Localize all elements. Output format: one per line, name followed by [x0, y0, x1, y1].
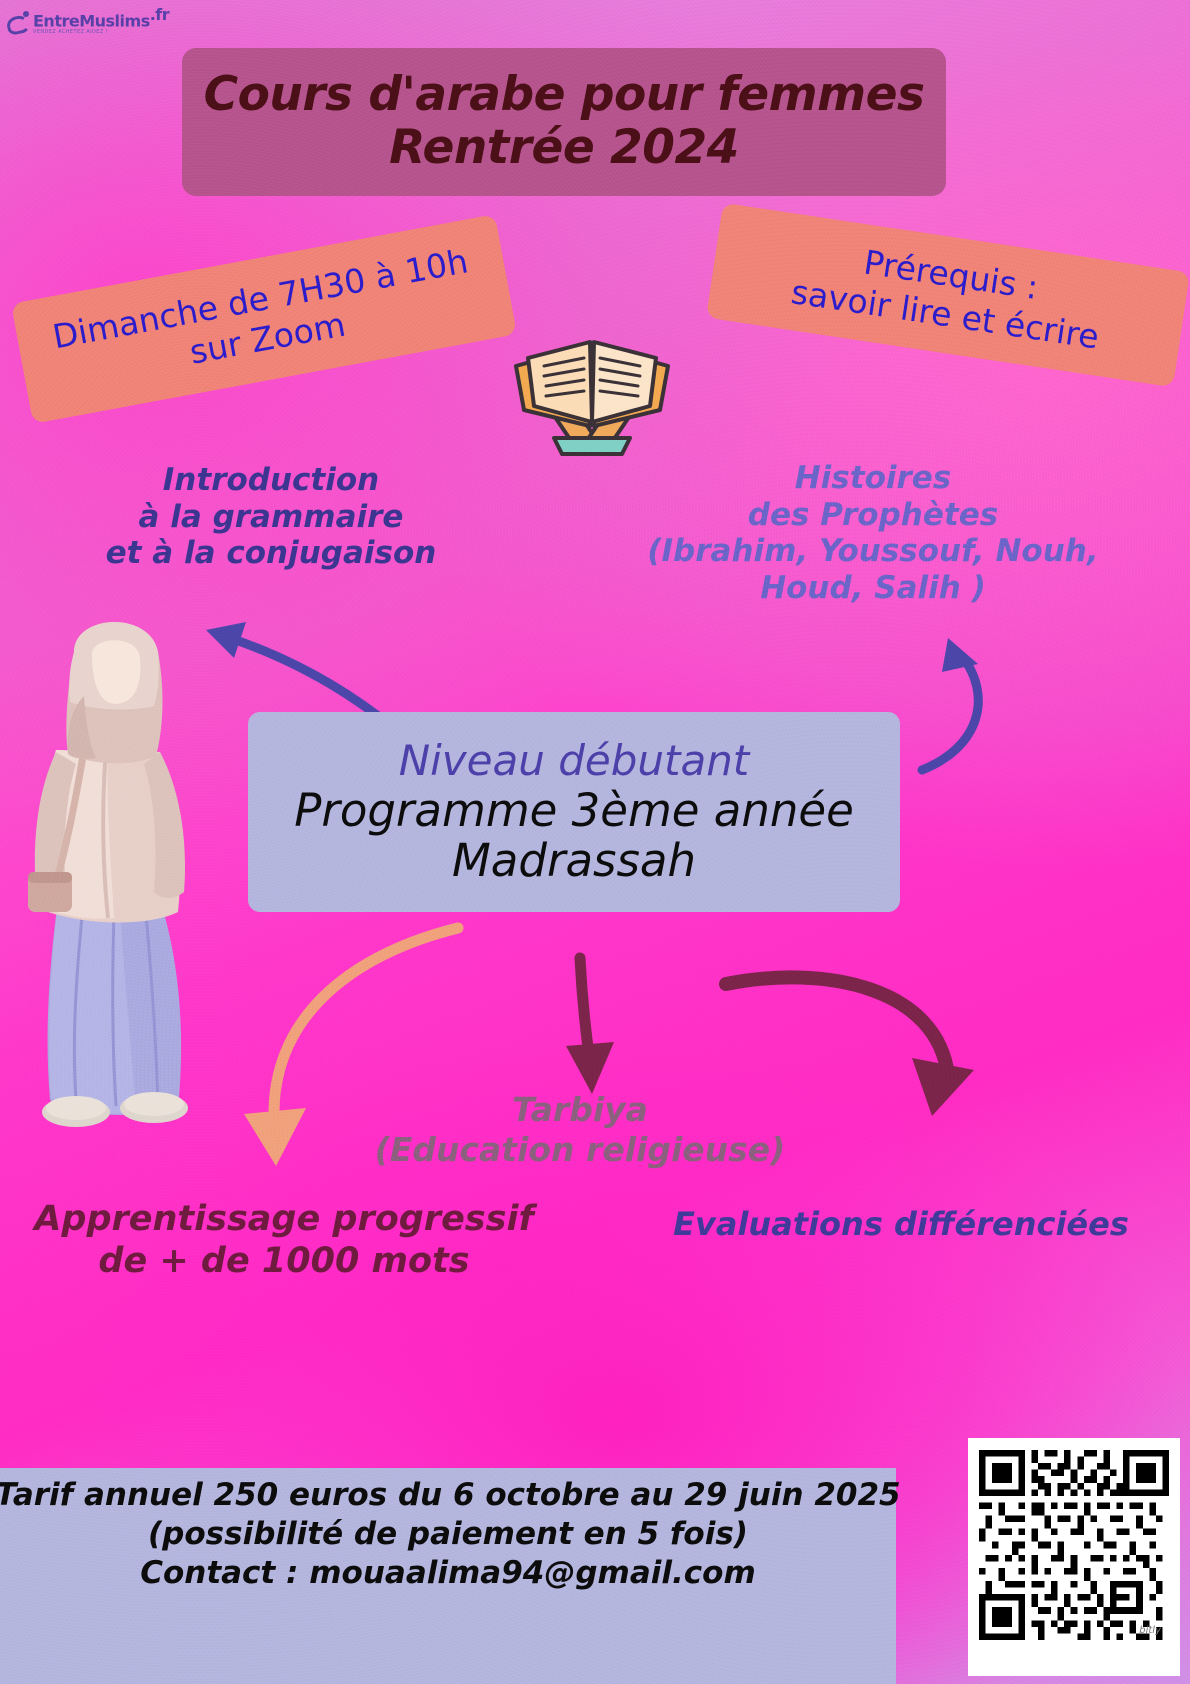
footer-line-3: Contact : mouaalima94@gmail.com	[140, 1554, 756, 1593]
topic-evaluations: Evaluations différenciées	[612, 1205, 1190, 1243]
open-quran-on-rihal-icon	[502, 322, 682, 462]
qr-code-card[interactable]: bitly	[968, 1438, 1180, 1676]
apprentissage-line-1: Apprentissage progressif	[4, 1198, 564, 1240]
qr-brand-label: bitly	[1139, 1625, 1161, 1636]
topic-prophets-line-4: Houd, Salih )	[556, 570, 1190, 607]
poster-title-card: Cours d'arabe pour femmes Rentrée 2024	[182, 48, 946, 196]
title-line-2: Rentrée 2024	[389, 122, 739, 175]
topic-grammar: Introduction à la grammaire et à la conj…	[36, 462, 506, 572]
program-line-2: Madrassah	[452, 836, 696, 886]
topic-apprentissage: Apprentissage progressif de + de 1000 mo…	[4, 1198, 564, 1282]
arrow-to-prophets	[890, 620, 1030, 780]
level-label: Niveau débutant	[399, 738, 750, 784]
apprentissage-line-2: de + de 1000 mots	[4, 1240, 564, 1282]
site-logo[interactable]: EntreMuslims.fr VENDEZ ACHETEZ AIDEZ !	[6, 4, 126, 38]
tarbiya-line-2: (Education religieuse)	[300, 1130, 860, 1170]
schedule-ribbon: Dimanche de 7H30 à 10h sur Zoom	[11, 214, 517, 424]
prerequisites-ribbon: Prérequis : savoir lire et écrire	[706, 203, 1190, 387]
logo-tagline: VENDEZ ACHETEZ AIDEZ !	[33, 30, 169, 35]
logo-name: EntreMuslims	[33, 11, 150, 30]
person-reading-icon	[6, 9, 30, 33]
topic-prophets-line-3: (Ibrahim, Youssouf, Nouh,	[556, 533, 1190, 570]
topic-prophets-line-2: des Prophètes	[556, 497, 1190, 534]
footer-line-1: Tarif annuel 250 euros du 6 octobre au 2…	[0, 1476, 901, 1515]
footer-info: Tarif annuel 250 euros du 6 octobre au 2…	[0, 1468, 896, 1684]
title-line-1: Cours d'arabe pour femmes	[204, 69, 925, 122]
footer-line-2: (possibilité de paiement en 5 fois)	[148, 1515, 748, 1554]
poster-canvas: EntreMuslims.fr VENDEZ ACHETEZ AIDEZ ! C…	[0, 0, 1190, 1684]
topic-prophets: Histoires des Prophètes (Ibrahim, Yousso…	[556, 460, 1190, 606]
level-card: Niveau débutant Programme 3ème année Mad…	[248, 712, 900, 912]
tarbiya-line-1: Tarbiya	[300, 1090, 860, 1130]
topic-grammar-line-2: à la grammaire	[36, 499, 506, 536]
topic-grammar-line-3: et à la conjugaison	[36, 535, 506, 572]
logo-tld: .fr	[150, 5, 169, 24]
arrow-to-tarbiya	[548, 952, 628, 1102]
evaluations-line-1: Evaluations différenciées	[612, 1205, 1190, 1243]
program-line-1: Programme 3ème année	[294, 786, 854, 836]
topic-grammar-line-1: Introduction	[36, 462, 506, 499]
topic-tarbiya: Tarbiya (Education religieuse)	[300, 1090, 860, 1169]
qr-code[interactable]	[979, 1450, 1169, 1640]
topic-prophets-line-1: Histoires	[556, 460, 1190, 497]
